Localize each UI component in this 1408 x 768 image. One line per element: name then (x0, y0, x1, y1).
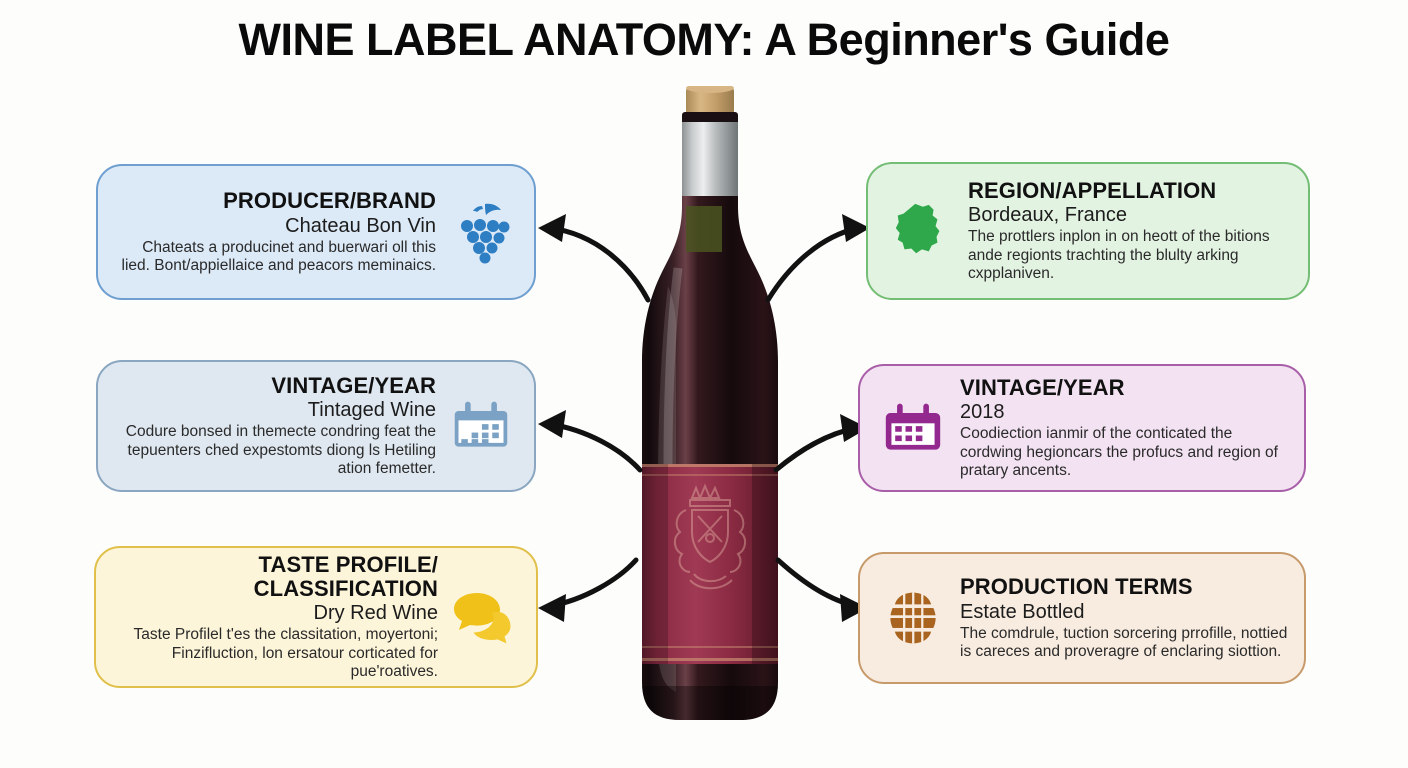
wine-bottle-illustration (620, 86, 800, 734)
card-producer-brand[interactable]: PRODUCER/BRAND Chateau Bon Vin Chateats … (96, 164, 536, 300)
card-description: Coodiection ianmir of the conticated the… (960, 425, 1288, 480)
card-title: PRODUCTION TERMS (960, 575, 1288, 599)
card-production-terms[interactable]: PRODUCTION TERMS Estate Bottled The comd… (858, 552, 1306, 684)
speech-bubbles-icon (446, 580, 520, 654)
card-value: Bordeaux, France (968, 204, 1292, 227)
card-value: Dry Red Wine (112, 602, 438, 625)
infographic-canvas: WINE LABEL ANATOMY: A Beginner's Guide (0, 0, 1408, 768)
calendar-icon (876, 391, 950, 465)
card-region-appellation[interactable]: REGION/APPELLATION Bordeaux, France The … (866, 162, 1310, 300)
card-value: Chateau Bon Vin (114, 215, 436, 238)
card-description: Codure bonsed in themecte condring feat … (114, 423, 436, 478)
arrowhead-vintage-left (538, 410, 566, 438)
bottle-label (638, 464, 782, 664)
card-description: Chateats a producinet and buerwari oll t… (114, 239, 436, 276)
arrowhead-producer (538, 214, 566, 242)
card-title: TASTE PROFILE/ CLASSIFICATION (112, 553, 438, 601)
card-taste-profile-classification[interactable]: TASTE PROFILE/ CLASSIFICATION Dry Red Wi… (94, 546, 538, 688)
card-title: REGION/APPELLATION (968, 179, 1292, 203)
card-value: Estate Bottled (960, 601, 1288, 624)
grapes-icon (444, 195, 518, 269)
arrowhead-taste (538, 594, 566, 622)
card-value: 2018 (960, 401, 1288, 424)
card-vintage-year-left[interactable]: VINTAGE/YEAR Tintaged Wine Codure bonsed… (96, 360, 536, 492)
card-value: Tintaged Wine (114, 399, 436, 422)
calendar-icon (444, 389, 518, 463)
foil-capsule (682, 122, 738, 208)
card-title: PRODUCER/BRAND (114, 189, 436, 213)
barrel-icon (876, 581, 950, 655)
card-title: VINTAGE/YEAR (114, 374, 436, 398)
card-description: The prottlers inplon in on heott of the … (968, 228, 1292, 283)
card-description: The comdrule, tuction sorcering prrofill… (960, 625, 1288, 662)
card-title: VINTAGE/YEAR (960, 376, 1288, 400)
card-vintage-year-right[interactable]: VINTAGE/YEAR 2018 Coodiection ianmir of … (858, 364, 1306, 492)
page-title: WINE LABEL ANATOMY: A Beginner's Guide (0, 14, 1408, 66)
card-description: Taste Profilel t'es the classitation, mo… (112, 626, 438, 681)
map-region-icon (884, 194, 958, 268)
